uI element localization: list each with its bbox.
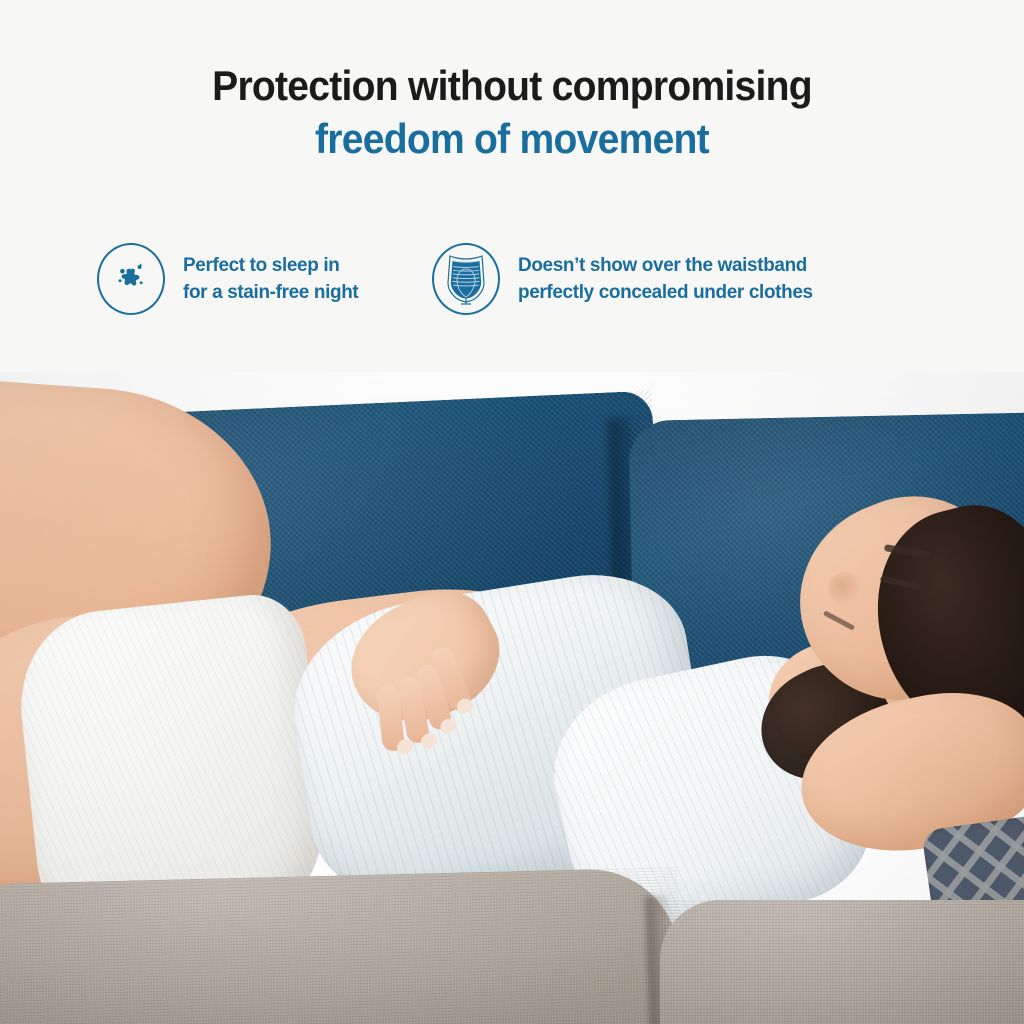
lifestyle-photo xyxy=(0,368,1024,1024)
couch-seat-cushion-left xyxy=(0,867,683,1024)
nose xyxy=(828,572,862,606)
headline-line-1: Protection without compromising xyxy=(36,62,988,110)
feature-list: Perfect to sleep in for a stain-free nig… xyxy=(0,243,1024,315)
feature-item-stain-free: Perfect to sleep in for a stain-free nig… xyxy=(97,243,364,315)
page-title: Protection without compromising freedom … xyxy=(0,62,1024,164)
ad-creative-root: Protection without compromising freedom … xyxy=(0,0,1024,1024)
header-panel: Protection without compromising freedom … xyxy=(0,0,1024,372)
underwear-brief-icon xyxy=(432,243,500,315)
feature-label-stain-free: Perfect to sleep in for a stain-free nig… xyxy=(183,252,358,306)
couch-seat-cushion-right xyxy=(660,900,1024,1024)
feature-label-concealed: Doesn’t show over the waistband perfectl… xyxy=(518,252,813,306)
splash-stain-icon xyxy=(97,243,165,315)
feature-item-concealed: Doesn’t show over the waistband perfectl… xyxy=(432,243,822,315)
headline-line-2: freedom of movement xyxy=(36,114,988,164)
